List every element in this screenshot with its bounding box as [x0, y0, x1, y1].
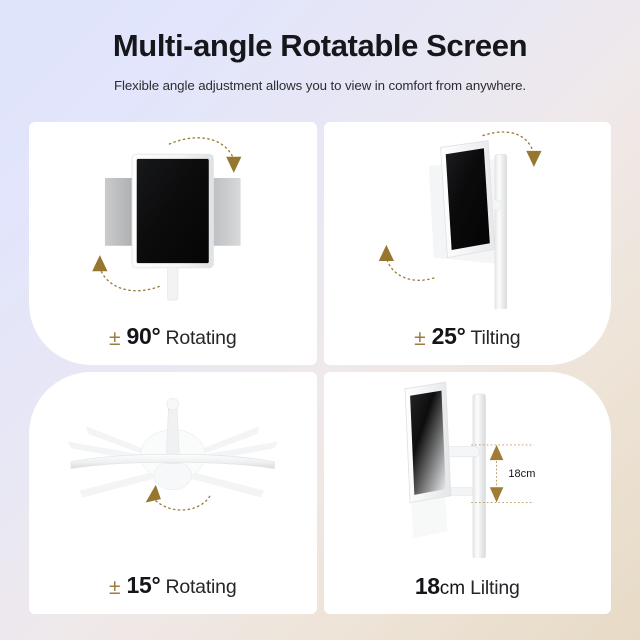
- dimension-arrow-18cm: [489, 444, 503, 502]
- page-header: Multi-angle Rotatable Screen Flexible an…: [0, 0, 640, 93]
- plus-minus-icon: ±: [109, 576, 121, 599]
- monitor-raised: [405, 382, 451, 502]
- plus-minus-icon: ±: [109, 327, 121, 350]
- caption-word: Rotating: [165, 327, 236, 349]
- caption-word: Tilting: [471, 327, 521, 349]
- caption-value: 15°: [127, 572, 161, 598]
- caption-value: 25°: [432, 323, 466, 349]
- feature-card-tilting-25[interactable]: ±25°Tilting: [324, 122, 612, 365]
- tilt-arrow-bottom-left: [378, 245, 433, 280]
- monitor-portrait: [132, 154, 213, 268]
- illustration-rotating-15: [29, 372, 317, 559]
- caption-tilting-25: ±25°Tilting: [324, 325, 612, 349]
- page-subtitle: Flexible angle adjustment allows you to …: [0, 78, 640, 93]
- caption-value: 90°: [127, 323, 161, 349]
- feature-card-lifting-18cm[interactable]: 18cm 18cmLilting: [324, 372, 612, 615]
- caption-rotating-15: ±15°Rotating: [29, 574, 317, 598]
- illustration-lifting-18cm: 18cm: [324, 372, 612, 559]
- caption-word: Rotating: [165, 576, 236, 598]
- caption-value: 18: [415, 573, 440, 599]
- feature-grid: ±90°Rotating: [29, 122, 611, 614]
- page-title: Multi-angle Rotatable Screen: [0, 28, 640, 64]
- caption-word: Lilting: [470, 577, 520, 599]
- feature-card-rotating-15[interactable]: ±15°Rotating: [29, 372, 317, 615]
- feature-card-rotating-90[interactable]: ±90°Rotating: [29, 122, 317, 365]
- caption-unit: cm: [440, 578, 465, 599]
- illustration-tilting-25: [324, 122, 612, 309]
- dimension-label: 18cm: [508, 468, 535, 480]
- monitor-tilted: [440, 141, 494, 258]
- caption-rotating-90: ±90°Rotating: [29, 325, 317, 349]
- illustration-rotating-90: [29, 122, 317, 309]
- caption-lifting-18cm: 18cmLilting: [324, 575, 612, 599]
- plus-minus-icon: ±: [414, 327, 426, 350]
